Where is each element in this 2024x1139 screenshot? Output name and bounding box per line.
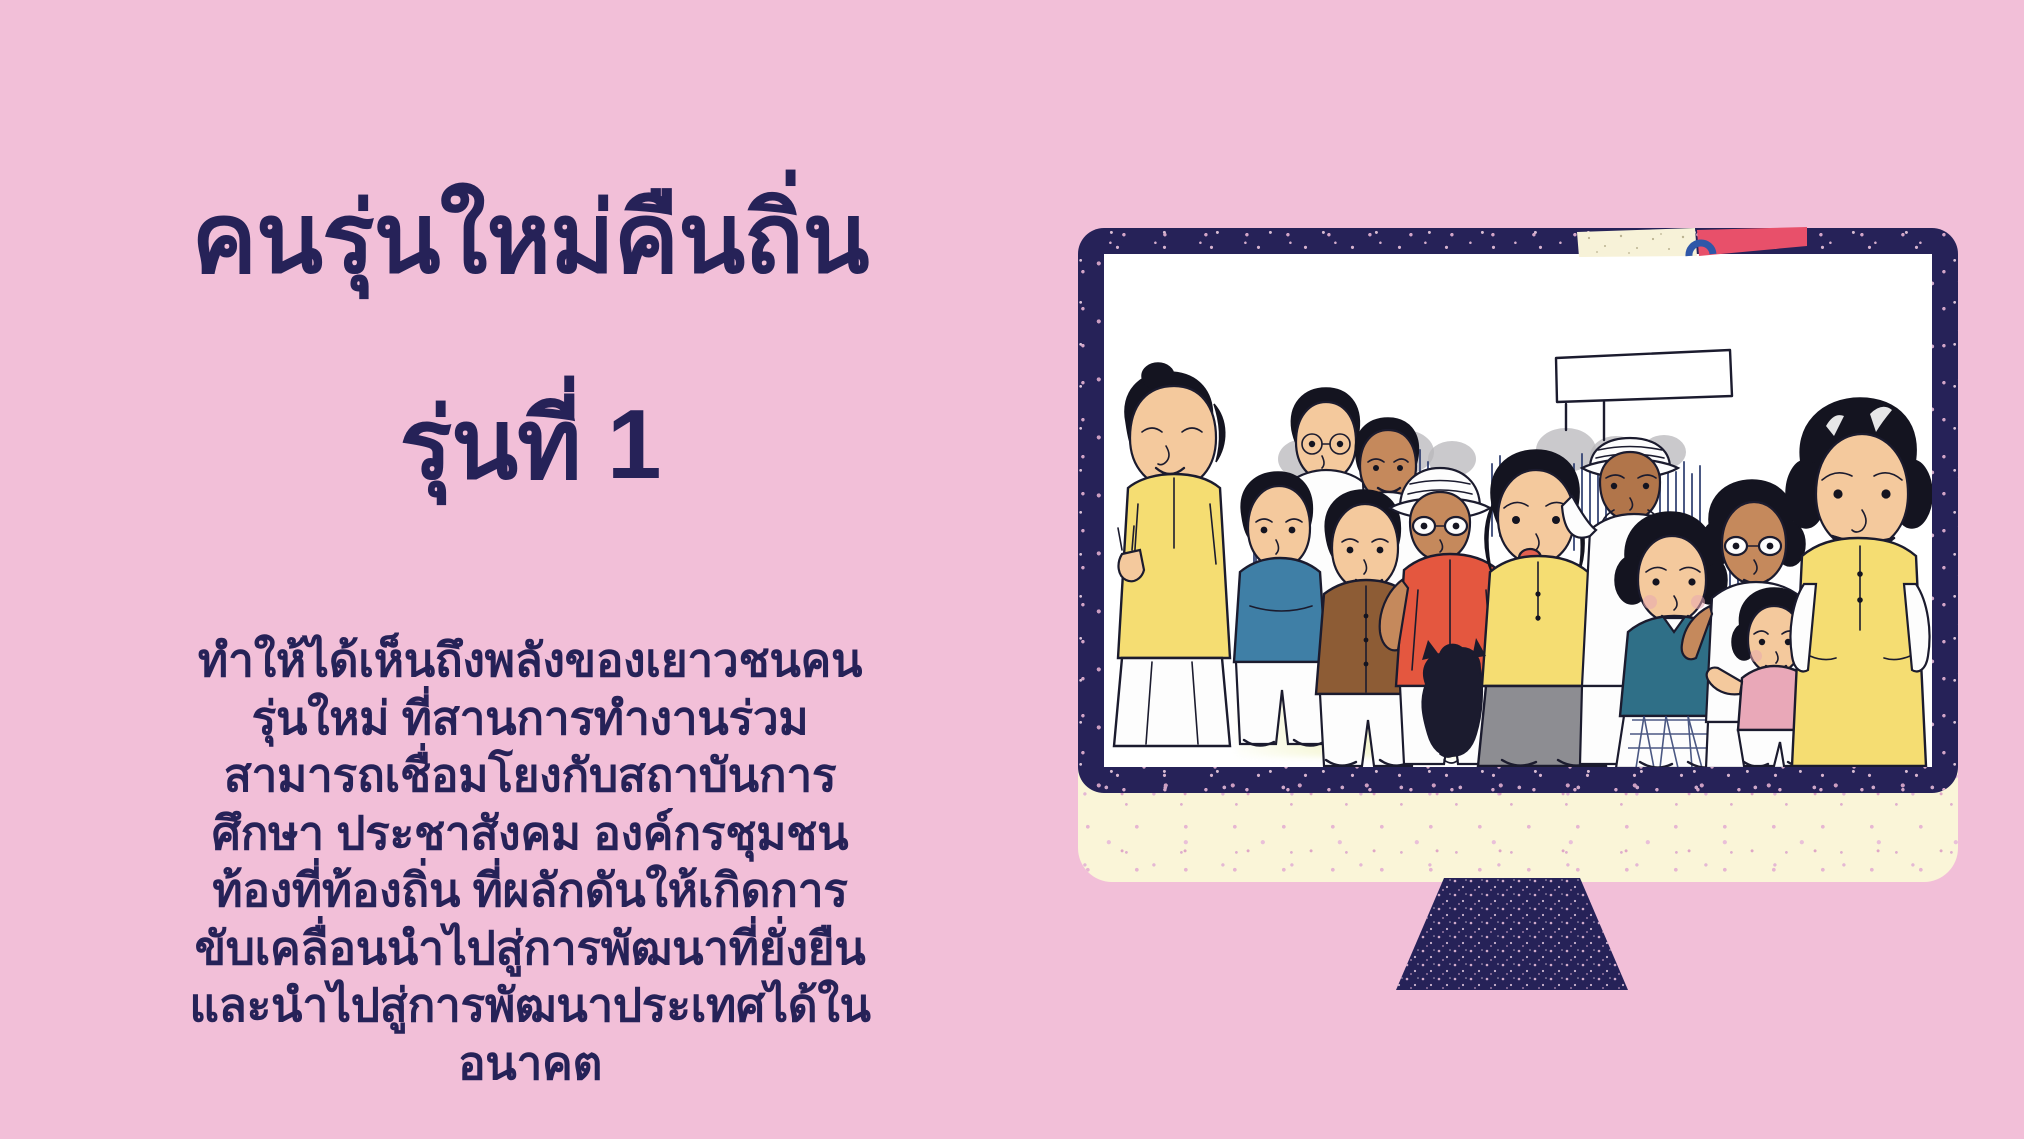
body-line: อนาคต [110, 1035, 950, 1093]
page-title: คนรุ่นใหม่คืนถิ่น รุ่นที่ 1 [100, 84, 960, 598]
monitor-illustration: .ln { fill:none; stroke:#1b1b2e; stroke-… [1078, 228, 1958, 793]
decorative-tape [1577, 226, 1807, 260]
body-line: สามารถเชื่อมโยงกับสถาบันการ [110, 747, 950, 805]
title-line-1: คนรุ่นใหม่คืนถิ่น [191, 183, 868, 293]
body-line: และนำไปสู่การพัฒนาประเทศได้ใน [110, 977, 950, 1035]
body-line: ขับเคลื่อนนำไปสู่การพัฒนาที่ยั่งยืน [110, 920, 950, 978]
community-group-drawing: .ln { fill:none; stroke:#1b1b2e; stroke-… [1104, 254, 1932, 767]
body-line: รุ่นใหม่ ที่สานการทำงานร่วม [110, 690, 950, 748]
poster-canvas: คนรุ่นใหม่คืนถิ่น รุ่นที่ 1 ทำให้ได้เห็น… [0, 0, 2024, 1139]
figure-woman-bun-left [1114, 363, 1230, 746]
tape-paper [1577, 228, 1697, 257]
body-line: ศึกษา ประชาสังคม องค์กรชุมชน [110, 805, 950, 863]
blank-protest-banner [1556, 350, 1732, 440]
figure-woman-wavy-hair-right [1786, 398, 1932, 766]
body-line: ทำให้ได้เห็นถึงพลังของเยาวชนคน [110, 632, 950, 690]
title-line-2: รุ่นที่ 1 [100, 393, 960, 496]
illustration-scene: .ln { fill:none; stroke:#1b1b2e; stroke-… [1104, 254, 1932, 767]
text-column: คนรุ่นใหม่คืนถิ่น รุ่นที่ 1 ทำให้ได้เห็น… [100, 84, 960, 1092]
monitor-screen: .ln { fill:none; stroke:#1b1b2e; stroke-… [1104, 254, 1932, 767]
monitor-stand [1372, 878, 1652, 1006]
body-line: ท้องที่ท้องถิ่น ที่ผลักดันให้เกิดการ [110, 862, 950, 920]
body-paragraph: ทำให้ได้เห็นถึงพลังของเยาวชนคน รุ่นใหม่ … [100, 632, 960, 1092]
